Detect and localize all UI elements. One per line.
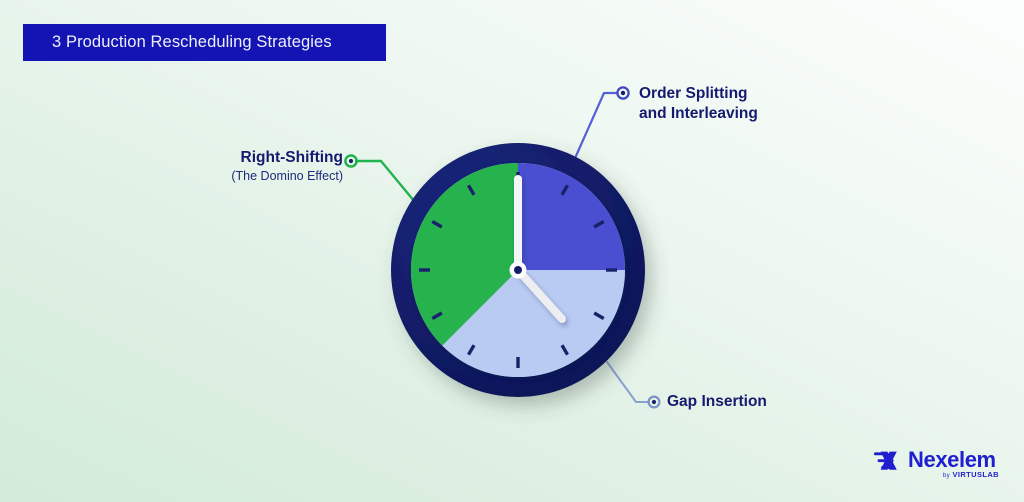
- clock-svg: [380, 132, 670, 432]
- callout-order-splitting-title-line2: and Interleaving: [639, 104, 869, 124]
- callout-gap-insertion-title: Gap Insertion: [667, 392, 867, 412]
- marker-right-shifting: [345, 155, 356, 166]
- callout-gap-insertion: Gap Insertion: [667, 392, 867, 412]
- logo-parent-brand: by VIRTUSLAB: [943, 470, 999, 481]
- clock-graphic: [380, 132, 670, 432]
- clock-center-cap: [510, 262, 527, 279]
- marker-order-splitting-dot: [621, 91, 625, 95]
- callout-right-shifting-title: Right-Shifting: [128, 148, 343, 168]
- logo-parent-text: VIRTUSLAB: [952, 470, 999, 479]
- slide-canvas: 3 Production Rescheduling Strategies Rig…: [0, 0, 1024, 502]
- callout-order-splitting: Order Splitting and Interleaving: [639, 84, 869, 124]
- marker-right-shifting-dot: [349, 159, 353, 163]
- brand-logo: Nexelem by VIRTUSLAB: [874, 448, 1000, 482]
- logo-by-text: by: [943, 473, 950, 479]
- callout-order-splitting-title-line1: Order Splitting: [639, 84, 869, 104]
- title-banner: 3 Production Rescheduling Strategies: [23, 24, 386, 61]
- nexelem-mark-icon: [874, 449, 904, 473]
- callout-right-shifting-subtitle: (The Domino Effect): [128, 168, 343, 185]
- marker-order-splitting: [617, 87, 628, 98]
- callout-right-shifting: Right-Shifting (The Domino Effect): [128, 148, 343, 185]
- page-title: 3 Production Rescheduling Strategies: [52, 33, 332, 52]
